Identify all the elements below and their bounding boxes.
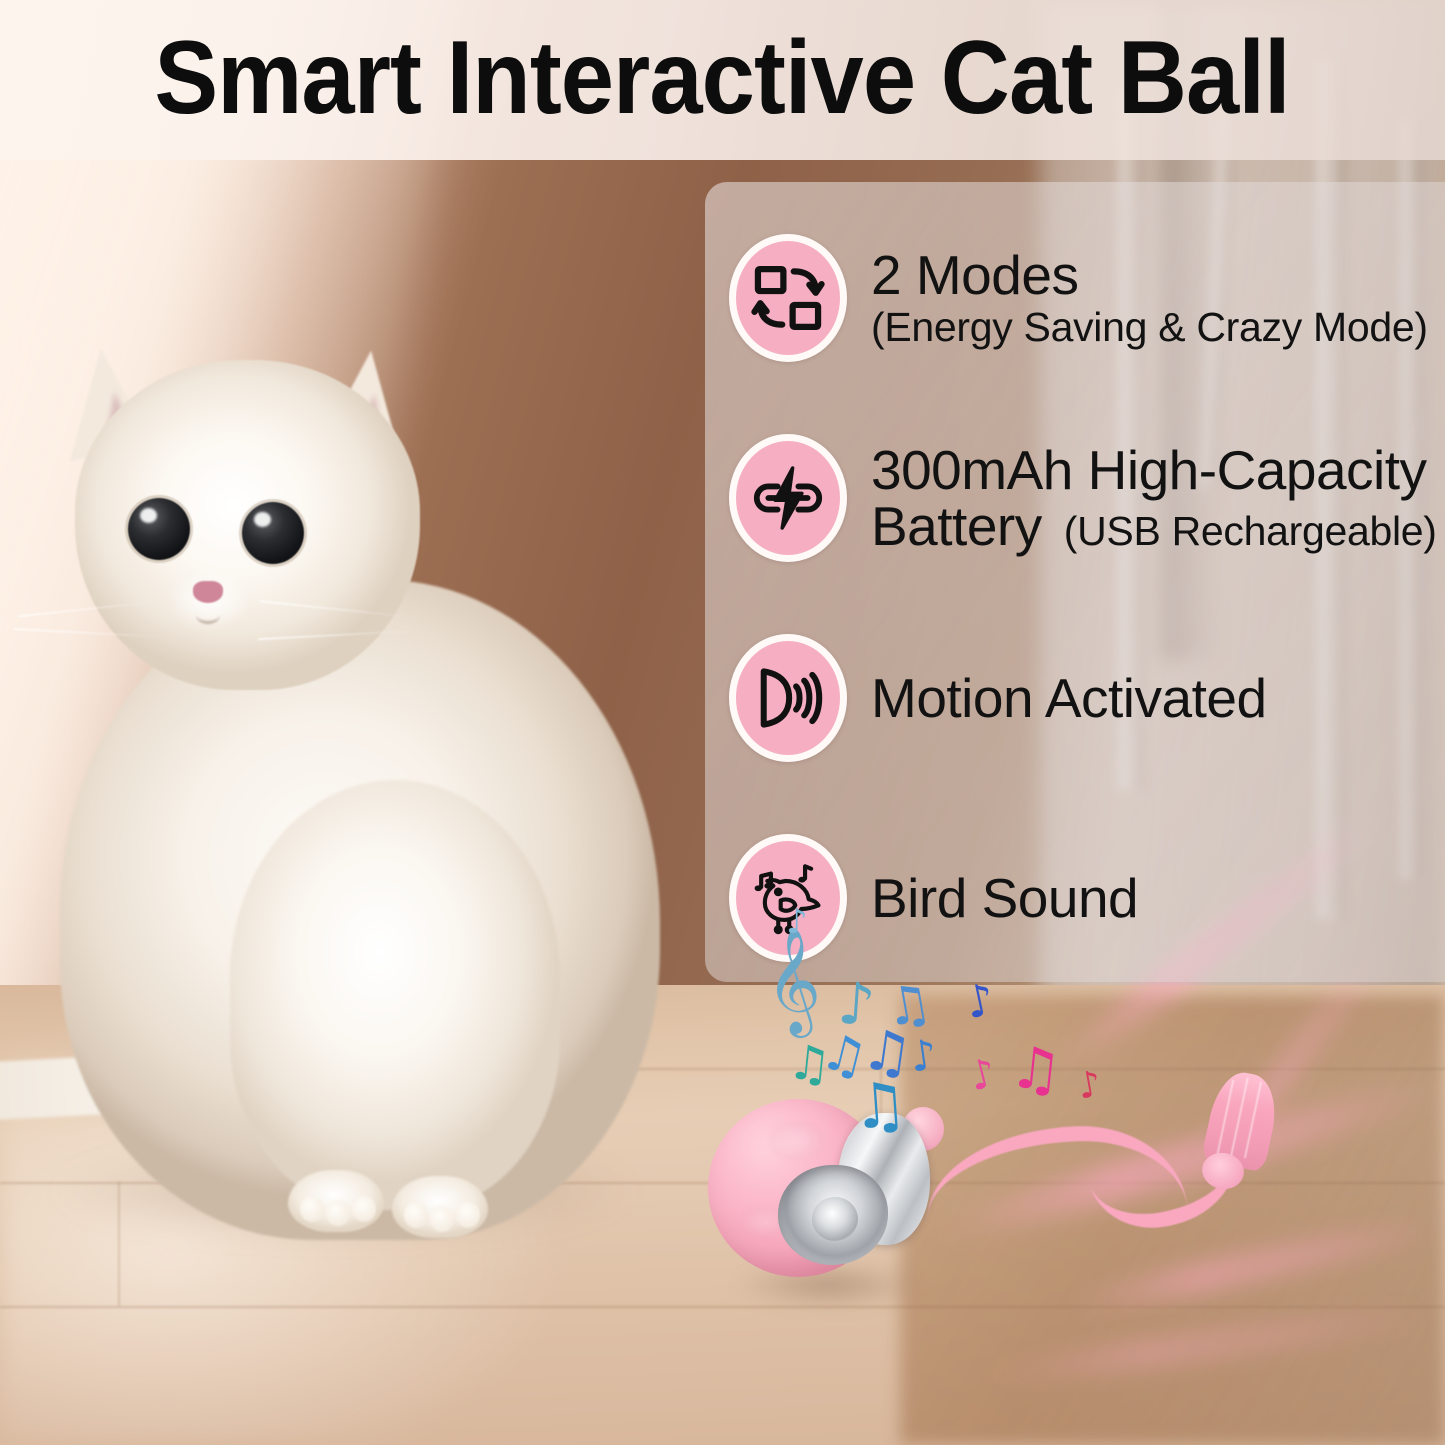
cat-chest [230, 780, 560, 1210]
toy-chrome-core [812, 1197, 858, 1241]
feature-title: 2 Modes [871, 247, 1428, 303]
title-banner: Smart Interactive Cat Ball [0, 0, 1445, 160]
cat-mouth [196, 606, 220, 624]
feature-title-second-line: Battery [871, 498, 1042, 554]
cat-eye-highlight [254, 512, 271, 527]
cat-nose [193, 581, 223, 603]
feature-text-battery: 300mAh High-Capacity Battery (USB Rechar… [871, 442, 1437, 554]
feature-text-modes: 2 Modes (Energy Saving & Crazy Mode) [871, 247, 1428, 349]
feature-text-bird: Bird Sound [871, 870, 1138, 926]
swap-modes-icon [729, 234, 847, 362]
cat-toe [352, 1196, 376, 1222]
cat-toe [326, 1200, 350, 1226]
music-note-icon: ♫ [786, 1038, 834, 1090]
music-note-icon: ♫ [850, 1073, 910, 1139]
feature-title: Motion Activated [871, 670, 1267, 726]
feature-title: Bird Sound [871, 870, 1138, 926]
cat-toe [300, 1196, 324, 1222]
music-note-icon: ♫ [1007, 1037, 1065, 1100]
cat-toe [430, 1206, 454, 1232]
cat-eye-highlight [140, 508, 157, 523]
music-note-icon: 𝄞 [760, 932, 824, 1029]
motion-sensor-icon [729, 634, 847, 762]
feature-text-motion: Motion Activated [871, 670, 1267, 726]
cat-eye-left [128, 498, 190, 560]
cat-toe [456, 1202, 480, 1228]
cat-toe [404, 1202, 428, 1228]
feature-subtitle: (Energy Saving & Crazy Mode) [871, 307, 1428, 349]
cat-photo [0, 350, 760, 1250]
feature-title-row: Battery (USB Rechargeable) [871, 498, 1437, 554]
cat-eye-right [242, 502, 304, 564]
feature-row-motion: Motion Activated [705, 598, 1445, 798]
feature-subtitle: (USB Rechargeable) [1064, 511, 1437, 553]
product-image-stage: Smart Interactive Cat Ball 2 Modes (Ener… [0, 0, 1445, 1445]
page-title: Smart Interactive Cat Ball [155, 26, 1290, 130]
battery-bolt-icon [729, 434, 847, 562]
music-note-icon: ♪ [907, 1033, 939, 1078]
feature-row-battery: 300mAh High-Capacity Battery (USB Rechar… [705, 398, 1445, 598]
feature-title: 300mAh High-Capacity [871, 442, 1437, 498]
feature-panel: 2 Modes (Energy Saving & Crazy Mode) 300… [705, 182, 1445, 982]
toy-ball-emboss [768, 1121, 826, 1161]
music-note-icon: ♪ [786, 905, 808, 939]
cat-muzzle [150, 562, 268, 648]
feature-row-modes: 2 Modes (Energy Saving & Crazy Mode) [705, 198, 1445, 398]
